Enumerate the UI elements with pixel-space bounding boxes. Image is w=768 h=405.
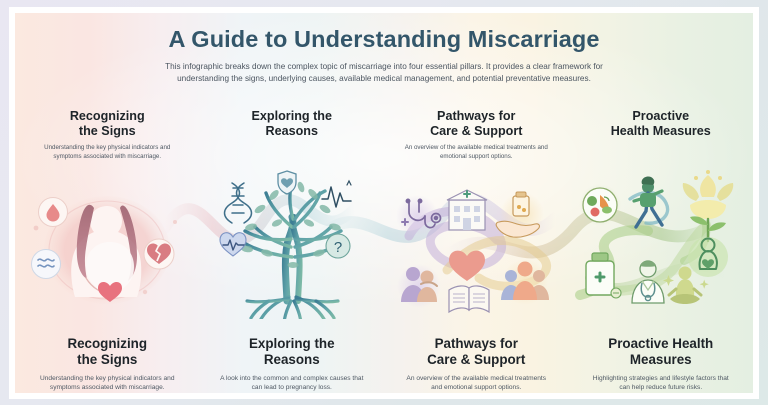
pillar-recognizing-the-signs: Recognizing the Signs Understanding the … xyxy=(15,109,200,393)
open-book-icon xyxy=(449,286,489,312)
pillar-1-top-heading-line2: the Signs xyxy=(79,124,136,138)
pillar-4-top-heading: Proactive Health Measures xyxy=(575,109,747,139)
exercising-person-icon xyxy=(630,176,668,227)
pillar-3-bottom-heading: Pathways for Care & Support xyxy=(388,336,564,368)
pillar-columns: Recognizing the Signs Understanding the … xyxy=(15,109,753,393)
pillar-4-top-heading-line2: Health Measures xyxy=(611,124,711,138)
pillar-exploring-the-reasons: Exploring the Reasons xyxy=(200,109,385,393)
pillar-2-top-heading: Exploring the Reasons xyxy=(206,109,378,139)
pillar-3-top-heading-line2: Care & Support xyxy=(430,124,522,138)
pillar-1-top-caption: Recognizing the Signs Understanding the … xyxy=(21,109,193,161)
heart-pulse-icon xyxy=(220,233,246,256)
pillar-1-bottom-heading-line2: the Signs xyxy=(77,352,137,367)
pillar-3-top-description: An overview of the available medical tre… xyxy=(401,144,551,162)
pregnant-woman-illustration xyxy=(18,174,196,324)
pillar-4-bottom-description: Highlighting strategies and lifestyle fa… xyxy=(587,374,735,394)
pillar-3-top-caption: Pathways for Care & Support An overview … xyxy=(390,109,562,161)
infographic-frame: A Guide to Understanding Miscarriage Thi… xyxy=(9,7,759,399)
pillar-1-top-heading: Recognizing the Signs xyxy=(21,109,193,139)
pillar-pathways-for-care-and-support: Pathways for Care & Support An overview … xyxy=(384,109,569,393)
pillar-4-illustration xyxy=(569,144,754,336)
pillar-3-illustration xyxy=(384,161,569,336)
pillar-3-top-heading: Pathways for Care & Support xyxy=(390,109,562,139)
pillar-2-bottom-caption: Exploring the Reasons A look into the co… xyxy=(204,336,380,393)
pillar-3-top-heading-line1: Pathways for xyxy=(437,109,515,123)
pillar-3-bottom-caption: Pathways for Care & Support An overview … xyxy=(388,336,564,393)
pillar-1-bottom-heading: Recognizing the Signs xyxy=(19,336,195,368)
pillar-1-bottom-heading-line1: Recognizing xyxy=(67,336,147,351)
pillar-1-bottom-description: Understanding the key physical indicator… xyxy=(33,374,181,394)
lotus-flower-icon xyxy=(683,170,733,241)
question-mark-icon: ? xyxy=(326,234,350,258)
page-subtitle: This infographic breaks down the complex… xyxy=(149,61,619,85)
pillar-4-top-heading-line1: Proactive xyxy=(632,109,689,123)
page-title: A Guide to Understanding Miscarriage xyxy=(15,27,753,53)
pillar-proactive-health-measures: Proactive Health Measures xyxy=(569,109,754,393)
supplement-bottle-icon xyxy=(586,253,621,298)
pregnancy-wellness-icon xyxy=(688,237,728,277)
infographic-header: A Guide to Understanding Miscarriage Thi… xyxy=(15,27,753,85)
heartbeat-line-icon xyxy=(322,181,351,207)
pillar-3-bottom-description: An overview of the available medical tre… xyxy=(402,374,550,394)
dna-helix-icon xyxy=(224,183,251,223)
pillar-4-bottom-caption: Proactive Health Measures Highlighting s… xyxy=(573,336,749,393)
pillar-2-bottom-heading: Exploring the Reasons xyxy=(204,336,380,368)
pillar-1-top-description: Understanding the key physical indicator… xyxy=(32,144,182,162)
tree-of-life-illustration: ? xyxy=(203,161,381,319)
pillar-2-illustration: ? xyxy=(200,144,385,336)
infographic-canvas: A Guide to Understanding Miscarriage Thi… xyxy=(15,13,753,393)
care-support-illustration xyxy=(387,174,565,324)
hospital-icon xyxy=(447,190,487,230)
pillar-3-bottom-heading-line1: Pathways for xyxy=(435,336,518,351)
pillar-2-bottom-heading-line1: Exploring the xyxy=(249,336,335,351)
pillar-2-bottom-heading-line2: Reasons xyxy=(264,352,320,367)
pillar-2-top-heading-line2: Reasons xyxy=(266,124,319,138)
pillar-4-top-caption: Proactive Health Measures xyxy=(575,109,747,144)
pillar-2-top-caption: Exploring the Reasons xyxy=(206,109,378,144)
pillar-2-bottom-description: A look into the common and complex cause… xyxy=(218,374,366,394)
pillar-1-top-heading-line1: Recognizing xyxy=(70,109,145,123)
pillar-2-top-heading-line1: Exploring the xyxy=(252,109,332,123)
pillar-1-bottom-caption: Recognizing the Signs Understanding the … xyxy=(19,336,195,393)
pillar-4-bottom-heading-line2: Measures xyxy=(630,352,692,367)
proactive-health-illustration xyxy=(572,165,750,315)
pillar-3-bottom-heading-line2: Care & Support xyxy=(427,352,525,367)
pillar-4-bottom-heading-line1: Proactive Health xyxy=(608,336,713,351)
vegetable-bowl-icon xyxy=(583,188,617,222)
shield-heart-icon xyxy=(278,171,296,194)
infographic-page: A Guide to Understanding Miscarriage Thi… xyxy=(0,0,768,405)
pillar-4-bottom-heading: Proactive Health Measures xyxy=(573,336,749,368)
svg-text:?: ? xyxy=(334,239,342,256)
pillar-1-illustration xyxy=(15,161,200,336)
